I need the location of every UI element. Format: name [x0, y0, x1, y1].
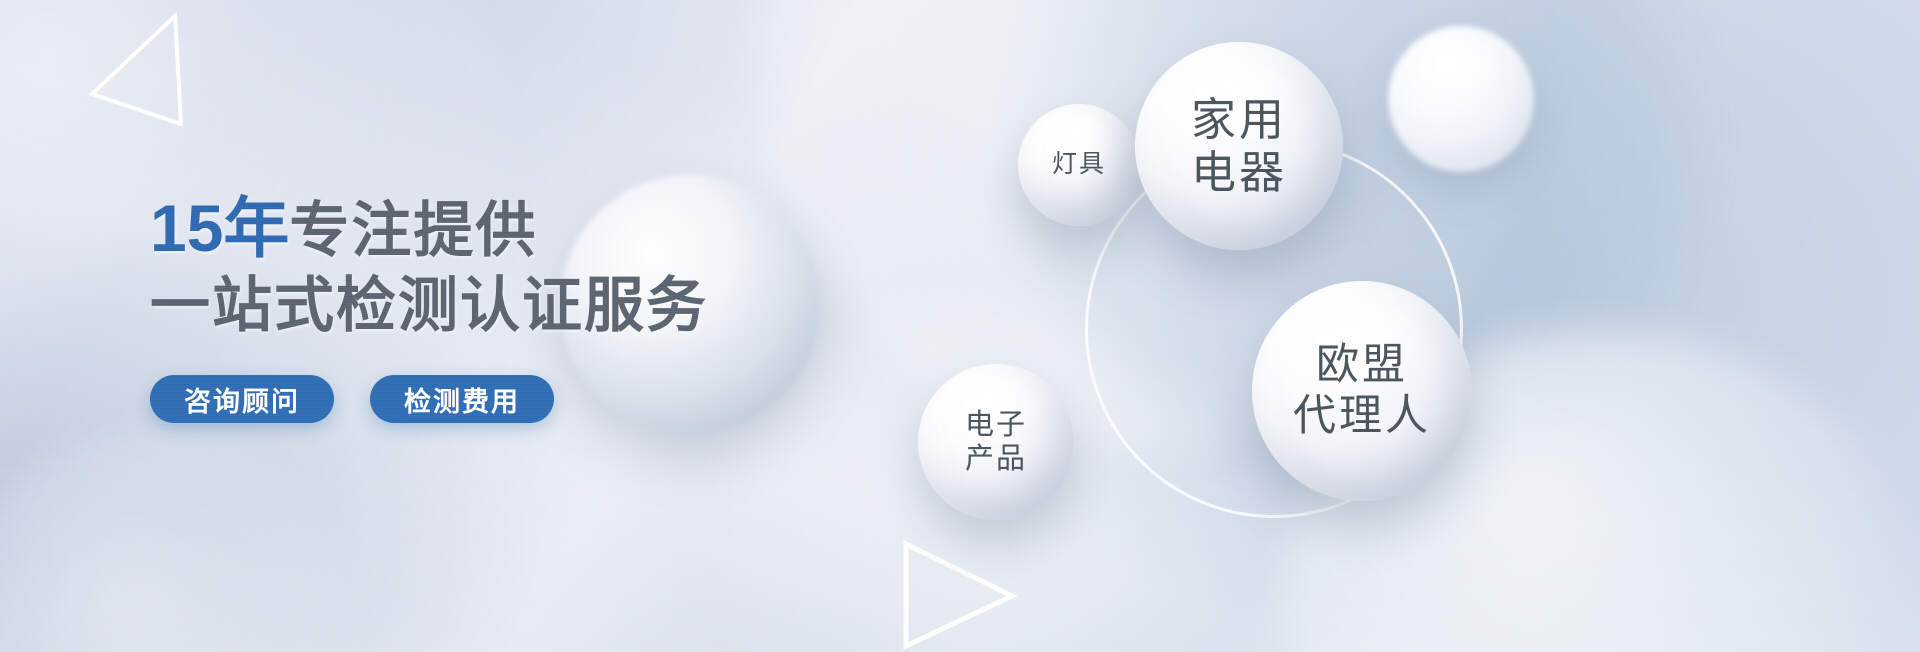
bubble-label: 电子 产品 — [965, 408, 1027, 476]
bubble-lamps[interactable]: 灯具 — [1018, 104, 1140, 226]
cta-button-row: 咨询顾问 检测费用 — [150, 375, 870, 423]
testing-fee-button[interactable]: 检测费用 — [370, 375, 554, 423]
headline-line-2: 一站式检测认证服务 — [150, 268, 870, 345]
bubble-label: 欧盟 代理人 — [1293, 340, 1431, 441]
headline-block: 15年专注提供 一站式检测认证服务 咨询顾问 检测费用 — [150, 186, 870, 423]
bubble-decorative-plain — [1388, 26, 1534, 172]
bubble-home-appliances[interactable]: 家用 电器 — [1135, 42, 1343, 250]
background-blob-h — [0, 430, 360, 652]
headline-line-1-rest: 专注提供 — [289, 197, 537, 264]
promo-banner: 灯具 家用 电器 欧盟 代理人 电子 产品 15年专注提供 一站式检测认证服务 … — [0, 0, 1920, 652]
triangle-outline-left-icon — [78, 10, 188, 130]
triangle-outline-right-icon — [890, 530, 1030, 652]
bubble-electronics[interactable]: 电子 产品 — [918, 364, 1074, 520]
headline-years-accent: 15年 — [150, 191, 289, 265]
bubble-gloss — [1411, 39, 1502, 97]
bubble-eu-representative[interactable]: 欧盟 代理人 — [1252, 281, 1472, 501]
headline-line-1: 15年专注提供 — [150, 186, 870, 270]
bubble-label: 家用 电器 — [1191, 93, 1287, 199]
bubble-label: 灯具 — [1052, 150, 1106, 180]
consult-advisor-button[interactable]: 咨询顾问 — [150, 375, 334, 423]
